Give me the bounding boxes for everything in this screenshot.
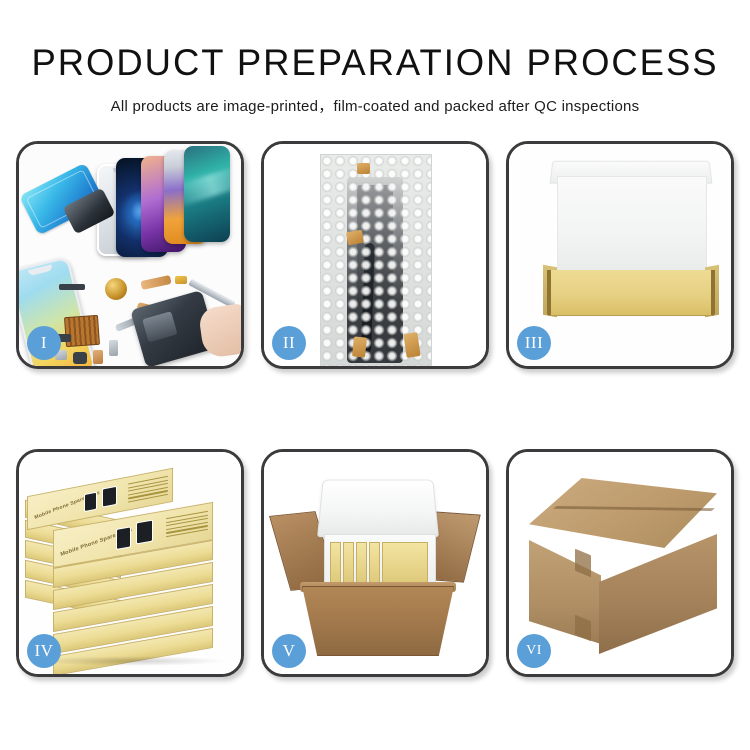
page-header: PRODUCT PREPARATION PROCESS All products…	[0, 0, 750, 116]
box-window-front-2	[136, 519, 153, 544]
product-preparation-page: PRODUCT PREPARATION PROCESS All products…	[0, 0, 750, 750]
step-badge-1: I	[27, 326, 61, 360]
step-badge-4: IV	[27, 634, 61, 668]
step-badge-6: VI	[517, 634, 551, 668]
page-title: PRODUCT PREPARATION PROCESS	[6, 44, 745, 81]
yellow-pack-3	[356, 542, 367, 586]
bubble-wrap-bag-icon	[320, 154, 432, 366]
box-foam-back-icon	[557, 176, 707, 276]
yellow-pack-5	[382, 542, 428, 586]
tape-strip-2-icon	[346, 230, 364, 246]
process-steps-grid: I II	[16, 141, 734, 677]
box-window-front-1	[116, 526, 131, 550]
foam-box-lid-icon	[317, 480, 439, 538]
small-part-e-icon	[109, 340, 118, 356]
yellow-pack-4	[369, 542, 380, 586]
step-panel-5[interactable]: V	[261, 449, 489, 677]
page-subtitle: All products are image-printed，film-coat…	[0, 95, 750, 116]
small-part-g-icon	[175, 276, 187, 284]
carton-right-face	[599, 534, 717, 654]
yellow-pack-1	[330, 542, 341, 586]
stack-shadow	[37, 656, 227, 666]
small-part-c-icon	[73, 352, 87, 364]
yellow-box-front-icon	[547, 270, 715, 316]
sealed-carton-icon	[529, 478, 717, 654]
phone-screen-teal-icon	[184, 146, 230, 242]
step-panel-6[interactable]: VI	[506, 449, 734, 677]
step-panel-1[interactable]: I	[16, 141, 244, 369]
small-part-d-icon	[93, 350, 103, 364]
step-panel-4[interactable]: Mobile Phone Spare Parts Mobile Phone Sp…	[16, 449, 244, 677]
speaker-module-icon	[105, 278, 127, 300]
carton-top-face	[529, 478, 717, 548]
step-panel-2[interactable]: II	[261, 141, 489, 369]
box-window-rear-2	[102, 486, 117, 508]
carton-body-icon	[302, 586, 454, 656]
step-badge-5: V	[272, 634, 306, 668]
small-part-a-icon	[59, 284, 85, 290]
tape-strip-3-icon	[352, 336, 367, 357]
box-window-rear-1	[84, 492, 97, 513]
yellow-packs-group	[330, 542, 430, 586]
chip-grid-part-icon	[64, 315, 100, 347]
yellow-pack-2	[343, 542, 354, 586]
step-badge-3: III	[517, 326, 551, 360]
step-panel-3[interactable]: III	[506, 141, 734, 369]
tape-strip-1-icon	[357, 163, 370, 174]
step-badge-2: II	[272, 326, 306, 360]
